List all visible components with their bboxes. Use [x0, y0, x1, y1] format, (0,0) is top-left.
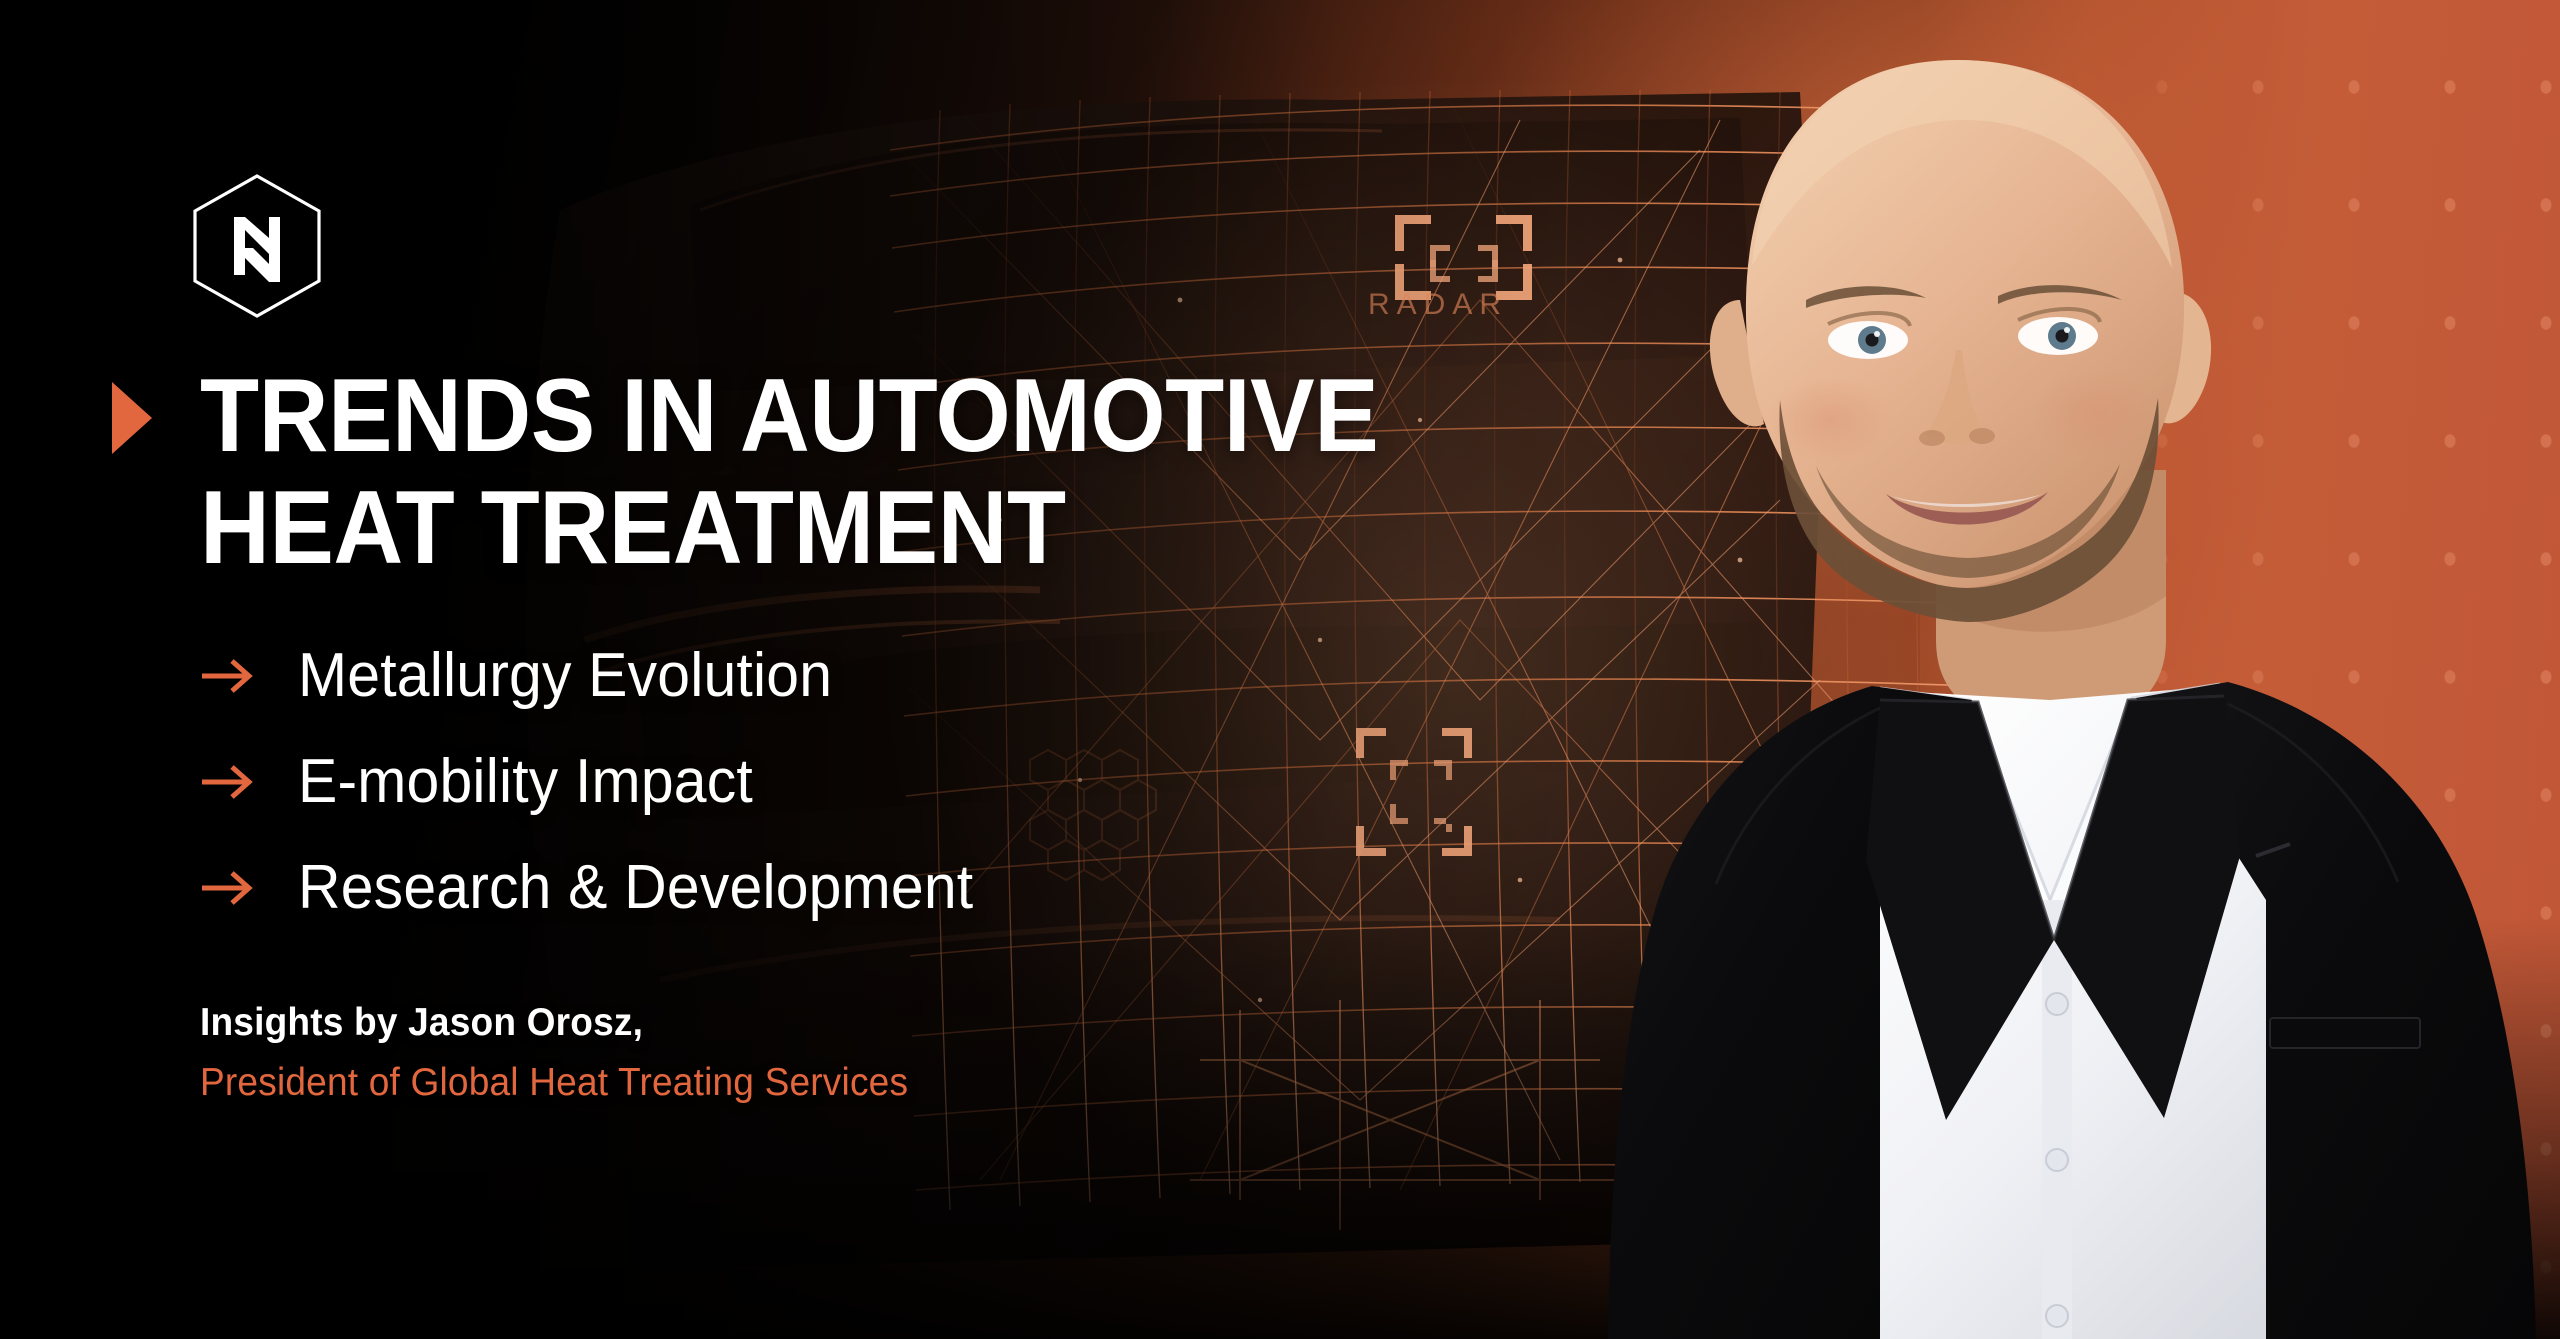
byline-role: President of Global Heat Treating Servic…	[200, 1061, 1578, 1105]
radar-label: RADAR	[1368, 288, 1508, 322]
hexagon-n-logo[interactable]	[190, 172, 324, 320]
topic-list: Metallurgy Evolution E-mobility Impact	[200, 641, 1650, 923]
dot-grid-pattern	[2000, 0, 2560, 1339]
byline: Insights by Jason Orosz, President of Gl…	[200, 1001, 1650, 1105]
list-item-label: Metallurgy Evolution	[298, 645, 832, 707]
marketing-banner: RADAR	[0, 0, 2560, 1339]
list-item[interactable]: Metallurgy Evolution	[200, 641, 1650, 711]
title-block: TRENDS IN AUTOMOTIVE HEAT TREATMENT	[200, 360, 1650, 585]
list-item-label: Research & Development	[298, 857, 973, 919]
list-item[interactable]: E-mobility Impact	[200, 747, 1650, 817]
arrow-right-icon	[200, 656, 256, 696]
page-title: TRENDS IN AUTOMOTIVE HEAT TREATMENT	[200, 360, 1549, 585]
byline-name: Insights by Jason Orosz,	[200, 1001, 1578, 1045]
list-item-label: E-mobility Impact	[298, 751, 753, 813]
arrow-right-icon	[200, 868, 256, 908]
list-item[interactable]: Research & Development	[200, 853, 1650, 923]
arrow-right-icon	[200, 762, 256, 802]
orange-triangle-marker	[112, 382, 152, 454]
hero-content: TRENDS IN AUTOMOTIVE HEAT TREATMENT Meta…	[200, 360, 1650, 1105]
